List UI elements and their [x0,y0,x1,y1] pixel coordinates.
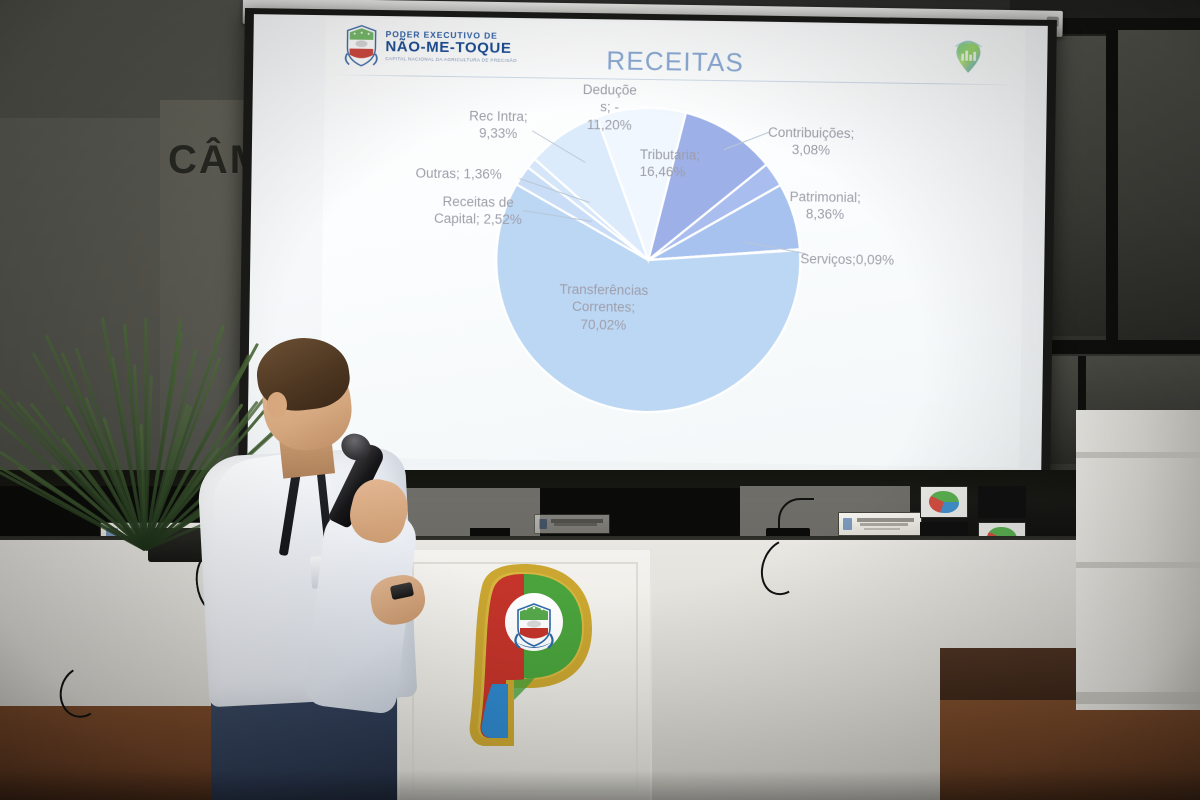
pie-label-patrimonial: Patrimonial; 8,36% [773,188,878,224]
nameplate-line-3 [864,528,900,530]
nameplate-crest-icon [539,519,547,529]
floor-shadow [0,770,1200,800]
pie-label-rec-intra: Rec Intra; 9,33% [452,107,545,143]
pie-label-transferencias: Transferências Correntes; 70,02% [543,280,664,334]
auditorium-scene: CÂM [0,0,1200,800]
nameplate-line-2 [860,523,908,526]
window-mullion [1106,30,1118,346]
municipal-p-emblem-icon [452,556,602,756]
p-emblem-icon [929,491,958,514]
pie-label-deducoes: Deduçõe s; - 11,20% [560,81,659,134]
pie-label-outras: Outras; 1,36% [415,165,533,184]
nameplate-crest-icon [843,518,852,530]
nameplate-center [534,514,610,534]
column-base [1076,692,1200,704]
column-ridge-2 [1076,562,1200,568]
pie-label-contribuicoes: Contribuições; 3,08% [756,124,867,160]
nameplate-line-2 [554,523,597,526]
nameplate-line-1 [857,518,914,522]
logo-tile-1 [920,486,968,518]
pie-label-servicos: Serviços;0,09% [800,250,920,269]
presenter-ear [267,392,287,418]
pie-label-receitas-capital: Receitas de Capital; 2,52% [421,193,535,229]
window-glass-right [1118,30,1200,342]
column-ridge-1 [1076,452,1200,458]
pie-label-tributaria: Tributária; 16,46% [639,146,732,182]
presenter [195,330,455,800]
logo-tile-dark-1 [978,486,1026,518]
nameplate-right [838,512,922,536]
